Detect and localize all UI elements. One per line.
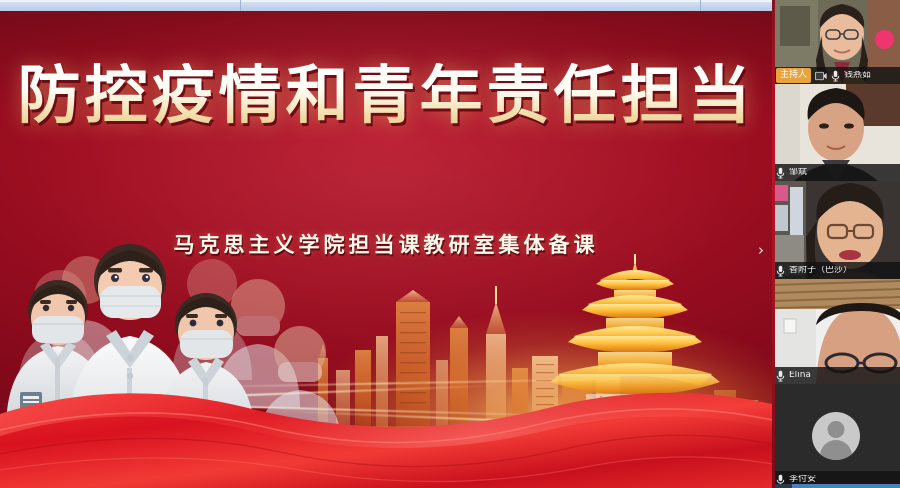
participant-tile-5[interactable]: 李付安 — [772, 384, 900, 488]
microphone-icon — [776, 167, 785, 179]
microphone-icon — [776, 265, 785, 277]
bottom-strip-blue — [792, 484, 900, 488]
participant-name-bar: Elina — [772, 367, 900, 384]
microphone-icon — [776, 370, 785, 382]
shared-screen-slide[interactable]: 防控疫情和青年责任担当 马克思主义学院担当课教研室集体备课 › — [0, 11, 772, 488]
background-decoration — [875, 30, 894, 49]
camera-icon — [815, 71, 827, 81]
window-chrome-strip — [0, 0, 780, 11]
participant-name: 钱燕茹 — [844, 71, 871, 80]
app-window: 防控疫情和青年责任担当 马克思主义学院担当课教研室集体备课 › — [0, 0, 900, 488]
bottom-strip-dark — [772, 484, 792, 488]
chevron-right-icon: › — [758, 243, 764, 258]
collapse-video-panel-button[interactable]: › — [754, 235, 768, 265]
participant-tile-4[interactable]: Elina — [772, 279, 900, 384]
participant-name: Elina — [789, 371, 811, 380]
slide-title-container: 防控疫情和青年责任担当 — [0, 63, 772, 130]
slide-subtitle: 马克思主义学院担当课教研室集体备课 — [174, 229, 599, 259]
participant-video-rail[interactable]: 主持人 钱燕茹 — [772, 0, 900, 488]
avatar — [812, 412, 860, 460]
chrome-tab-seam-2 — [700, 0, 701, 11]
participant-name-bar: 香附子（巴莎） — [772, 262, 900, 279]
chrome-tab-line — [0, 0, 780, 2]
avatar-head — [828, 421, 845, 438]
avatar-body — [820, 440, 852, 460]
participant-name: 李付安 — [789, 475, 816, 484]
page-title: 防控疫情和青年责任担当 — [18, 63, 755, 130]
participant-name: 邹斌 — [789, 168, 807, 177]
participant-name-bar: 邹斌 — [772, 164, 900, 181]
slide-subtitle-container: 马克思主义学院担当课教研室集体备课 — [0, 229, 772, 259]
red-silk-ribbon — [0, 358, 772, 488]
host-badge: 主持人 — [776, 68, 811, 83]
participant-tile-2[interactable]: 邹斌 — [772, 84, 900, 181]
participant-name: 香附子（巴莎） — [789, 266, 852, 275]
microphone-icon — [831, 70, 840, 82]
participant-name-bar: 主持人 钱燕茹 — [772, 67, 900, 84]
participant-tile-host[interactable]: 主持人 钱燕茹 — [772, 0, 900, 84]
chrome-tab-seam — [240, 0, 241, 11]
participant-tile-3[interactable]: 香附子（巴莎） — [772, 181, 900, 279]
rail-left-edge — [772, 0, 775, 488]
